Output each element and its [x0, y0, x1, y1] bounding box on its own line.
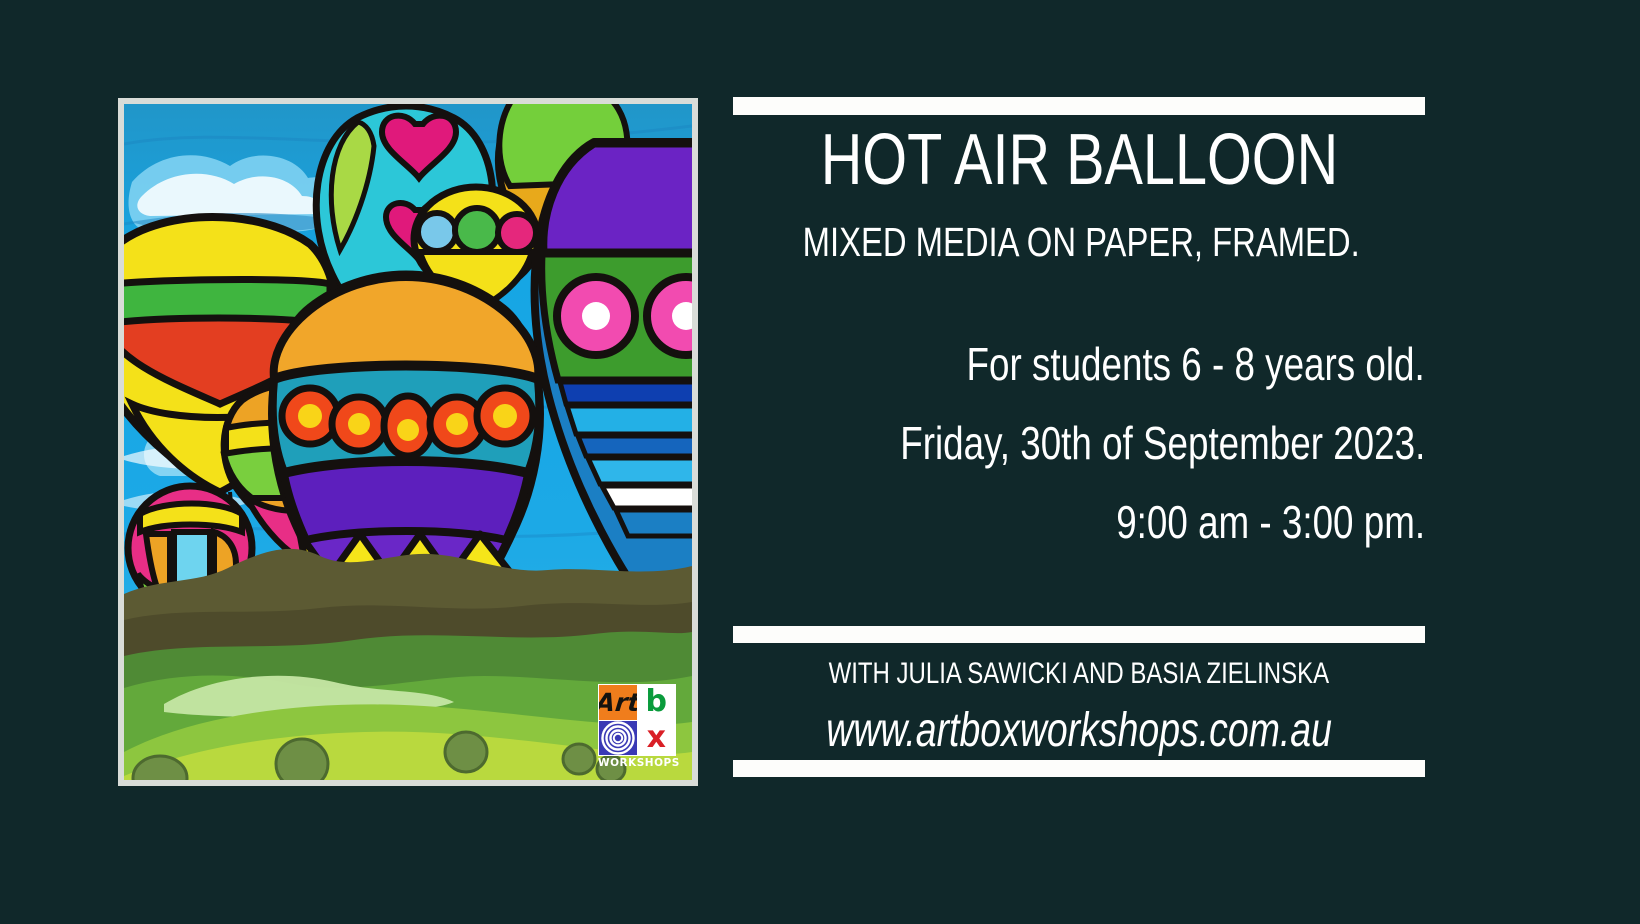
- logo-cell-x: x: [638, 721, 676, 756]
- website-url[interactable]: www.artboxworkshops.com.au: [733, 707, 1425, 755]
- logo-b-text: b: [638, 685, 676, 720]
- divider-middle: [733, 626, 1425, 643]
- page-title-text: HOT AIR BALLOON: [820, 124, 1338, 196]
- logo-cell-o-spiral: [599, 721, 637, 756]
- artwork-frame: [118, 98, 698, 786]
- logo-art-text: Art: [599, 685, 637, 720]
- logo-x-text: x: [638, 721, 676, 756]
- logo-cell-b: b: [638, 685, 676, 720]
- event-details: For students 6 - 8 years old. Friday, 30…: [733, 325, 1425, 562]
- detail-age-text: For students 6 - 8 years old.: [967, 325, 1425, 404]
- page-title: HOT AIR BALLOON: [733, 124, 1425, 196]
- logo-wordmark: WORKSHOPS: [598, 758, 676, 770]
- detail-line-time: 9:00 am - 3:00 pm.: [733, 483, 1425, 562]
- spiral-icon: [601, 721, 635, 755]
- artbox-workshops-logo: Art b x WORKSHOPS: [598, 684, 682, 780]
- hot-air-balloon-painting: [124, 104, 692, 780]
- page-subtitle-text: MIXED MEDIA ON PAPER, FRAMED.: [803, 222, 1360, 263]
- presenters-text: WITH JULIA SAWICKI AND BASIA ZIELINSKA: [829, 659, 1330, 689]
- website-url-text: www.artboxworkshops.com.au: [826, 707, 1332, 755]
- divider-top: [733, 97, 1425, 115]
- detail-line-age: For students 6 - 8 years old.: [733, 325, 1425, 404]
- detail-date-text: Friday, 30th of September 2023.: [900, 404, 1425, 483]
- detail-line-date: Friday, 30th of September 2023.: [733, 404, 1425, 483]
- poster-root: Art b x WORKSHOPS: [0, 0, 1640, 924]
- page-subtitle: MIXED MEDIA ON PAPER, FRAMED.: [733, 222, 1425, 263]
- logo-cell-art: Art: [599, 685, 637, 720]
- divider-bottom: [733, 760, 1425, 777]
- detail-time-text: 9:00 am - 3:00 pm.: [1116, 483, 1425, 562]
- presenters-line: WITH JULIA SAWICKI AND BASIA ZIELINSKA: [733, 659, 1425, 689]
- logo-grid: Art b x: [598, 684, 676, 756]
